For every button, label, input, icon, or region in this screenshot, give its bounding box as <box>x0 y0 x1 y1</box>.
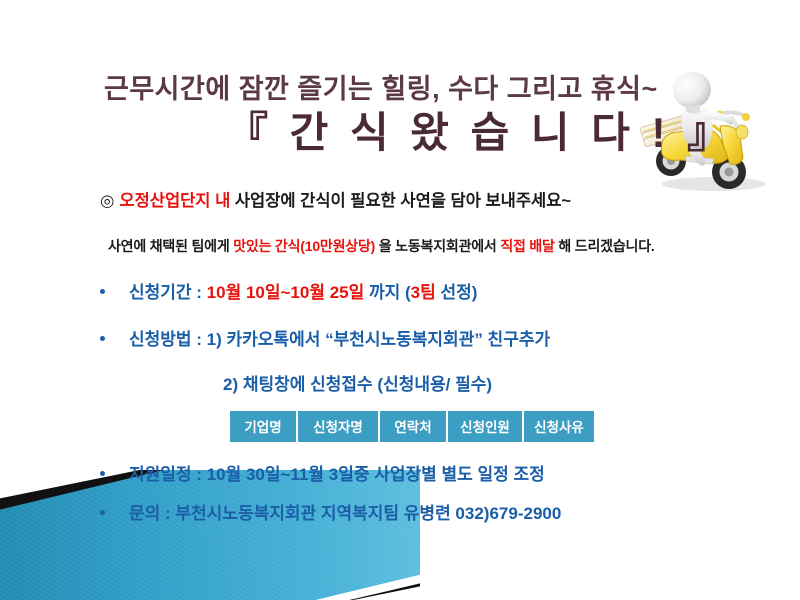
application-fields-table: 기업명 신청자명 연락처 신청인원 신청사유 <box>228 411 596 442</box>
table-header-applicant: 신청자명 <box>298 411 378 442</box>
content-block: ◎오정산업단지 내 사업장에 간식이 필요한 사연을 담아 보내주세요~ 사연에… <box>0 188 800 524</box>
subnotice-highlight-delivery: 직접 배달 <box>500 238 554 254</box>
bullet-dot-icon <box>100 510 105 515</box>
subnotice-highlight-snack: 맛있는 간식(10만원상당) <box>233 238 375 254</box>
table-header-contact: 연락처 <box>380 411 446 442</box>
bullet-dot-icon <box>100 289 105 294</box>
bullet-text: 신청기간 : 10월 10일~10월 25일 까지 (3팀 선정) <box>129 278 477 303</box>
table-header-headcount: 신청인원 <box>448 411 522 442</box>
notice-rest: 사업장에 간식이 필요한 사연을 담아 보내주세요~ <box>235 192 571 210</box>
subnotice-part2: 을 노동복지회관에서 <box>375 238 500 254</box>
notice-highlight: 오정산업단지 내 <box>119 192 230 210</box>
subnotice-part3: 해 드리겠습니다. <box>555 238 655 254</box>
notice-line: ◎오정산업단지 내 사업장에 간식이 필요한 사연을 담아 보내주세요~ <box>0 188 800 214</box>
headline-main-title: 『 간 식 왔 습 니 다 ! 』 <box>0 109 640 157</box>
bullet-dot-icon <box>100 336 105 341</box>
double-circle-icon: ◎ <box>100 192 114 210</box>
period-teams: 3팀 <box>411 283 436 302</box>
application-method-step-2: 2) 채팅창에 신청접수 (신청내용/ 필수) <box>0 370 800 395</box>
bullet-application-method: 신청방법 : 1) 카카오톡에서 “부천시노동복지회관” 친구추가 <box>0 325 800 350</box>
poster-canvas: 근무시간에 잠깐 즐기는 힐링, 수다 그리고 휴식~ 『 간 식 왔 습 니 … <box>0 0 800 600</box>
bullet-text: 지원일정 : 10월 30일~11월 3일중 사업장별 별도 일정 조정 <box>129 460 545 485</box>
bullet-text: 신청방법 : 1) 카카오톡에서 “부천시노동복지회관” 친구추가 <box>129 325 550 350</box>
bullet-contact-info: 문의 : 부천시노동복지회관 지역복지팀 유병련 032)679-2900 <box>0 499 800 524</box>
bullet-support-schedule: 지원일정 : 10월 30일~11월 3일중 사업장별 별도 일정 조정 <box>0 460 800 485</box>
period-tail: 까지 ( <box>364 283 410 302</box>
subnotice-line: 사연에 채택된 팀에게 맛있는 간식(10만원상당) 을 노동복지회관에서 직접… <box>0 236 800 256</box>
bullet-text: 문의 : 부천시노동복지회관 지역복지팀 유병련 032)679-2900 <box>129 499 561 524</box>
subnotice-part1: 사연에 채택된 팀에게 <box>108 238 233 254</box>
tail-bullets-block: 지원일정 : 10월 30일~11월 3일중 사업장별 별도 일정 조정 문의 … <box>0 460 800 524</box>
headline-block: 근무시간에 잠깐 즐기는 힐링, 수다 그리고 휴식~ 『 간 식 왔 습 니 … <box>0 74 640 157</box>
period-tail2: 선정) <box>436 283 478 302</box>
headline-top-line: 근무시간에 잠깐 즐기는 힐링, 수다 그리고 휴식~ <box>0 74 640 105</box>
table-header-reason: 신청사유 <box>524 411 594 442</box>
period-dates: 10월 10일~10월 25일 <box>207 283 365 302</box>
table-header-company: 기업명 <box>230 411 296 442</box>
bullet-application-period: 신청기간 : 10월 10일~10월 25일 까지 (3팀 선정) <box>0 278 800 303</box>
period-label: 신청기간 : <box>129 283 207 302</box>
table-header-row: 기업명 신청자명 연락처 신청인원 신청사유 <box>230 411 594 442</box>
bullet-dot-icon <box>100 471 105 476</box>
